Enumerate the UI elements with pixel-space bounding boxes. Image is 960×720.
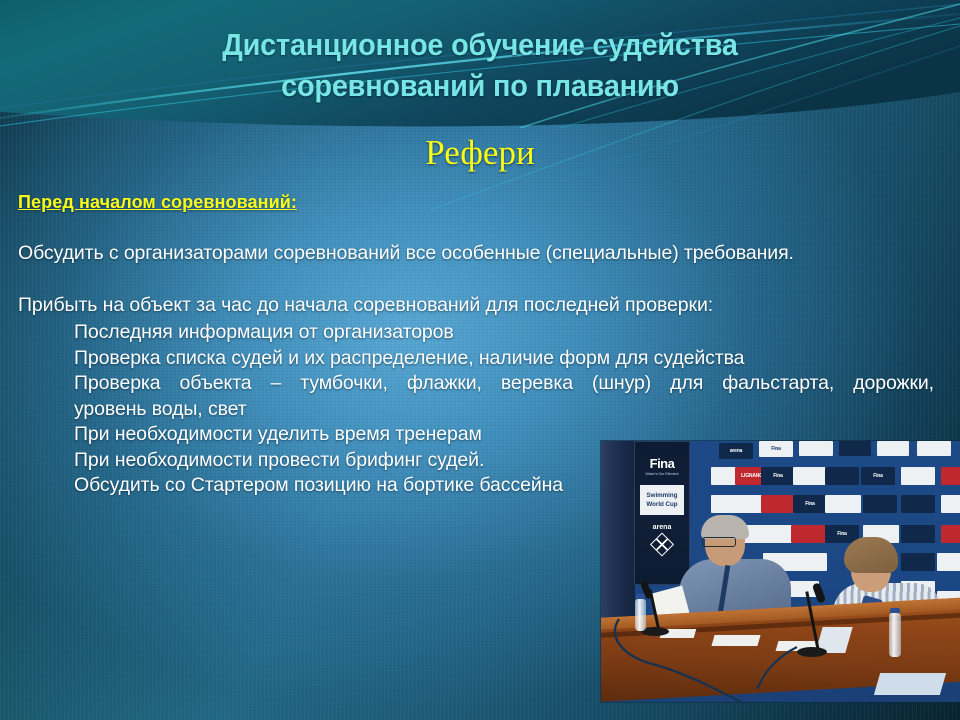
presentation-slide: Дистанционное обучение судейства соревно…	[0, 0, 960, 720]
list-item: Последняя информация от организаторов	[74, 320, 938, 346]
press-conference-photo: arena Fina LIGNANO Fina Fina Fina Fina	[601, 441, 960, 702]
body-paragraph-1: Обсудить с организаторами соревнований в…	[18, 240, 938, 266]
list-item-line-1: Проверка объекта – тумбочки, флажки, вер…	[74, 371, 934, 397]
slide-title-line-1: Дистанционное обучение судейства	[34, 24, 927, 65]
body-heading: Перед началом соревнований:	[18, 192, 938, 213]
slide-title-line-2: соревнований по плаванию	[34, 65, 927, 106]
list-item-line-2: уровень воды, свет	[74, 398, 247, 420]
body-paragraph-2: Прибыть на объект за час до начала сорев…	[18, 292, 938, 318]
list-item: Проверка списка судей и их распределение…	[74, 346, 938, 372]
slide-subtitle: Рефери	[0, 131, 960, 175]
list-item: Проверка объекта – тумбочки, флажки, вер…	[74, 371, 934, 422]
slide-title: Дистанционное обучение судейства соревно…	[34, 24, 927, 106]
cables	[601, 441, 960, 702]
